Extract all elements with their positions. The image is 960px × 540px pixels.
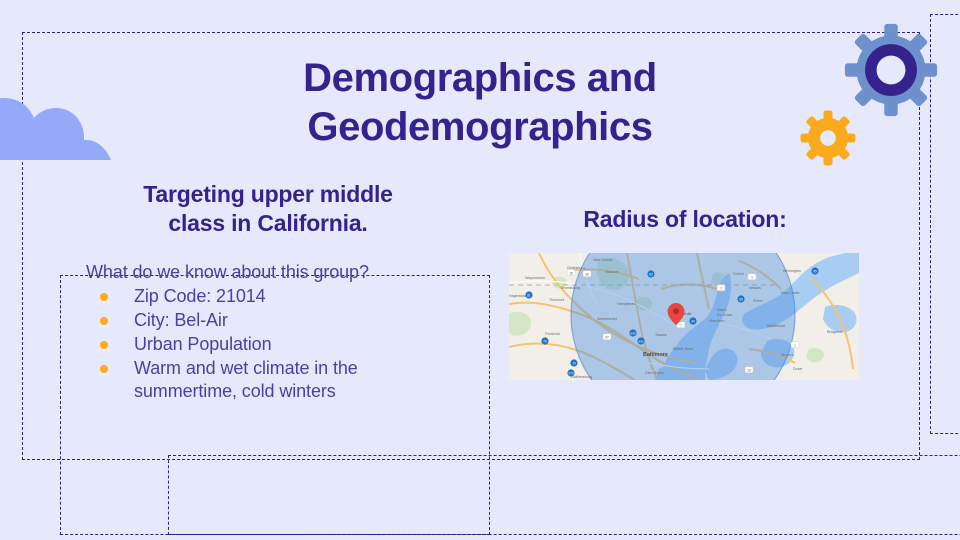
svg-text:40: 40 <box>691 319 695 323</box>
map-graphic: Waynesboro New Oxford Gettysburg Hanover… <box>509 253 859 380</box>
svg-text:Middletown: Middletown <box>767 324 785 328</box>
svg-text:Hagerstown: Hagerstown <box>509 294 528 298</box>
svg-text:Gettysburg: Gettysburg <box>567 266 585 270</box>
svg-text:695: 695 <box>638 339 643 343</box>
svg-text:95: 95 <box>739 297 743 301</box>
svg-text:Thurmont: Thurmont <box>549 298 564 302</box>
svg-text:Elkton: Elkton <box>753 299 763 303</box>
svg-text:Bridgeton: Bridgeton <box>827 330 842 334</box>
svg-text:Emmitsburg: Emmitsburg <box>561 286 580 290</box>
list-item-label: Warm and wet climate in the summertime, … <box>134 358 358 401</box>
list-item: Urban Population <box>86 333 416 356</box>
svg-text:Middle River: Middle River <box>673 347 694 351</box>
list-item: City: Bel-Air <box>86 309 416 332</box>
dashed-frame-bottom <box>168 455 960 535</box>
svg-text:83: 83 <box>649 272 653 276</box>
list-item: Zip Code: 21014 <box>86 285 416 308</box>
bullet-list: Zip Code: 21014 City: Bel-Air Urban Popu… <box>86 285 416 404</box>
radius-heading: Radius of location: <box>511 206 859 233</box>
list-item-label: Zip Code: 21014 <box>134 286 266 306</box>
svg-text:70: 70 <box>543 339 547 343</box>
slide-title-line-2: Geodemographics <box>180 103 780 152</box>
svg-text:Hanover: Hanover <box>605 270 619 274</box>
svg-text:Frederick: Frederick <box>545 332 560 336</box>
bullet-dot-icon <box>100 341 108 349</box>
svg-text:1: 1 <box>720 286 722 290</box>
gear-icon-small <box>800 110 856 166</box>
svg-text:1: 1 <box>751 275 753 279</box>
svg-text:30: 30 <box>585 272 589 276</box>
svg-text:1: 1 <box>794 343 796 347</box>
svg-text:70: 70 <box>572 361 576 365</box>
svg-text:695: 695 <box>630 331 635 335</box>
left-subtitle: Targeting upper middle class in Californ… <box>78 180 458 239</box>
svg-text:Smyrna: Smyrna <box>781 353 793 357</box>
svg-text:Westminster: Westminster <box>597 317 618 321</box>
svg-text:Newark: Newark <box>749 286 761 290</box>
bullet-dot-icon <box>100 365 108 373</box>
svg-text:Wilmington: Wilmington <box>783 269 801 273</box>
svg-text:Towson: Towson <box>655 333 667 337</box>
svg-text:Gaithersburg: Gaithersburg <box>571 375 592 379</box>
gear-icon-large <box>843 22 939 118</box>
list-item-label: City: Bel-Air <box>134 310 228 330</box>
list-item-label: Urban Population <box>134 334 272 354</box>
svg-text:Baltimore: Baltimore <box>643 352 668 358</box>
svg-text:270: 270 <box>568 371 574 375</box>
svg-text:Aberdeen: Aberdeen <box>709 319 725 323</box>
bullet-dot-icon <box>100 317 108 325</box>
svg-text:Oxford: Oxford <box>733 272 744 276</box>
svg-text:97: 97 <box>605 335 609 339</box>
svg-text:Dover: Dover <box>793 367 803 371</box>
svg-text:Hampstead: Hampstead <box>617 302 635 306</box>
svg-text:13: 13 <box>747 368 751 372</box>
left-subtitle-line-1: Targeting upper middle <box>78 180 458 209</box>
list-item: Warm and wet climate in the summertime, … <box>86 357 416 403</box>
svg-text:New Castle: New Castle <box>781 291 799 295</box>
svg-text:1: 1 <box>680 323 682 327</box>
slide-title: Demographics and Geodemographics <box>180 54 780 152</box>
svg-text:81: 81 <box>527 293 531 297</box>
map-radius-image: Waynesboro New Oxford Gettysburg Hanover… <box>509 253 859 380</box>
bullet-dot-icon <box>100 293 108 301</box>
cloud-shape <box>0 92 115 162</box>
slide-title-line-1: Demographics and <box>180 54 780 103</box>
slide-canvas: Demographics and Geodemographics Targeti… <box>0 0 960 540</box>
lead-question: What do we know about this group? <box>86 262 369 283</box>
svg-text:Havre: Havre <box>717 308 727 312</box>
svg-text:Glen Burnie: Glen Burnie <box>645 371 664 375</box>
left-subtitle-line-2: class in California. <box>78 209 458 238</box>
svg-text:De Grace: De Grace <box>717 313 732 317</box>
svg-text:New Oxford: New Oxford <box>593 258 612 262</box>
svg-text:95: 95 <box>813 269 817 273</box>
svg-text:Waynesboro: Waynesboro <box>525 276 545 280</box>
svg-text:15: 15 <box>569 271 573 275</box>
